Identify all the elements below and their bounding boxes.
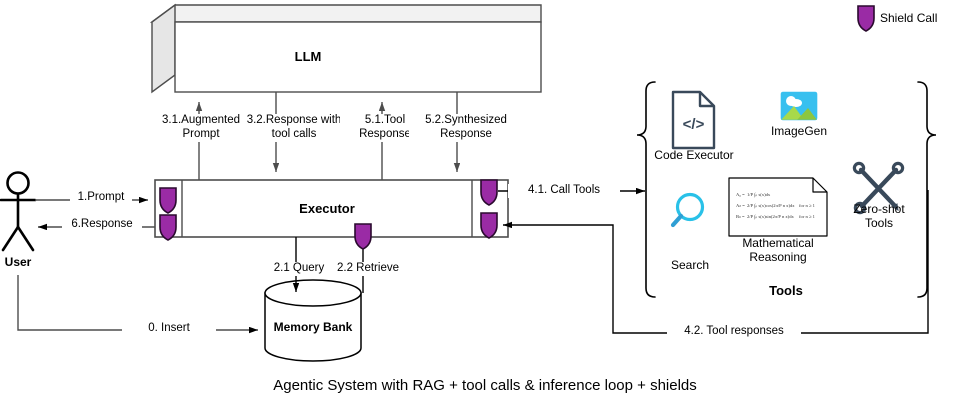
- tool-label-imagegen: ImageGen: [744, 124, 854, 138]
- user-label: User: [0, 255, 48, 269]
- executor-label: Executor: [267, 201, 387, 216]
- svg-text:A₀ =: A₀ =: [736, 192, 745, 197]
- shield-icon-executor-out-1: [481, 180, 497, 205]
- shield-icon-executor-in-1: [160, 188, 176, 213]
- svg-text:for n ≥ 1: for n ≥ 1: [799, 203, 816, 208]
- svg-text:</>: </>: [683, 116, 705, 133]
- flow-label-synthesized-response: 5.2.Synthesized Response: [409, 114, 523, 142]
- tool-label-math-reasoning: Mathematical Reasoning: [713, 236, 843, 264]
- math-document-icon[interactable]: A₀ = 1/P ∫ₚ s(x)dx Aₙ = 2/P ∫ₚ s(x)cos(2…: [729, 178, 827, 236]
- legend-shield-icon: [858, 6, 874, 31]
- tool-label-zero-shot-tools: Zero-shot Tools: [834, 202, 924, 230]
- flow-label-query: 2.1 Query: [268, 262, 330, 276]
- flow-label-call-tools: 4.1. Call Tools: [508, 184, 620, 198]
- shield-icon-executor-out-2: [481, 213, 497, 238]
- flow-label-retrieve: 2.2 Retrieve: [330, 262, 406, 276]
- tool-label-code-executor: Code Executor: [629, 148, 759, 162]
- svg-text:Aₙ =: Aₙ =: [736, 203, 745, 208]
- flow-label-insert: 0. Insert: [122, 322, 216, 336]
- shield-icon-executor-memory: [355, 224, 371, 249]
- flow-label-prompt: 1.Prompt: [70, 191, 132, 205]
- tools-group-label: Tools: [736, 283, 836, 298]
- code-document-icon[interactable]: </>: [673, 92, 714, 148]
- image-icon[interactable]: [781, 92, 817, 120]
- flow-label-tool-responses: 4.2. Tool responses: [667, 325, 801, 339]
- flow-label-response: 6.Response: [62, 218, 142, 232]
- memory-bank-label: Memory Bank: [253, 320, 373, 334]
- diagram-caption: Agentic System with RAG + tool calls & i…: [0, 377, 970, 394]
- user-node[interactable]: [1, 173, 35, 251]
- flow-label-response-with-tool-calls: 3.2.Response with tool calls: [240, 114, 348, 142]
- legend-shield-label: Shield Call: [880, 11, 970, 25]
- diagram-graphics: </> A₀ = 1/P ∫ₚ s(x)dx Aₙ = 2/P ∫ₚ s(x)c…: [0, 0, 970, 411]
- magnifier-icon[interactable]: [673, 195, 703, 226]
- shield-icon-executor-in-2: [160, 215, 176, 240]
- svg-text:Bₙ =: Bₙ =: [736, 214, 745, 219]
- svg-text:for n ≥ 1: for n ≥ 1: [799, 214, 816, 219]
- diagram-canvas: </> A₀ = 1/P ∫ₚ s(x)dx Aₙ = 2/P ∫ₚ s(x)c…: [0, 0, 970, 411]
- llm-label: LLM: [268, 49, 348, 64]
